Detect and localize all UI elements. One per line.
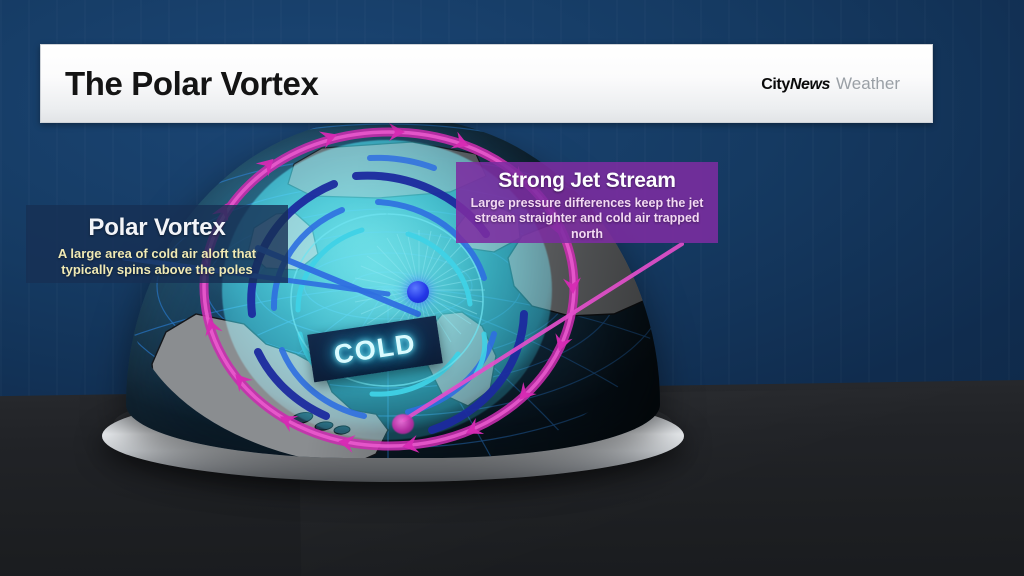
jet-stream-leader-dot [392,414,414,434]
brand-weather-text: Weather [836,74,900,94]
page-title: The Polar Vortex [65,65,318,103]
graphic-stage: COLD The Polar Vortex City News Weather … [0,0,1024,576]
callout-polar-vortex: Polar Vortex A large area of cold air al… [26,205,288,283]
callout-polar-vortex-body: A large area of cold air aloft that typi… [36,246,278,278]
callout-strong-jet-stream-body: Large pressure differences keep the jet … [466,196,708,242]
brand-logo: City News Weather [761,74,910,94]
callout-strong-jet-stream-title: Strong Jet Stream [466,169,708,193]
brand-news-text: News [790,76,830,94]
cold-label-text: COLD [332,328,418,371]
brand-city-text: City [761,76,790,94]
callout-polar-vortex-title: Polar Vortex [36,214,278,242]
callout-strong-jet-stream: Strong Jet Stream Large pressure differe… [456,162,718,243]
title-bar: The Polar Vortex City News Weather [40,44,933,123]
